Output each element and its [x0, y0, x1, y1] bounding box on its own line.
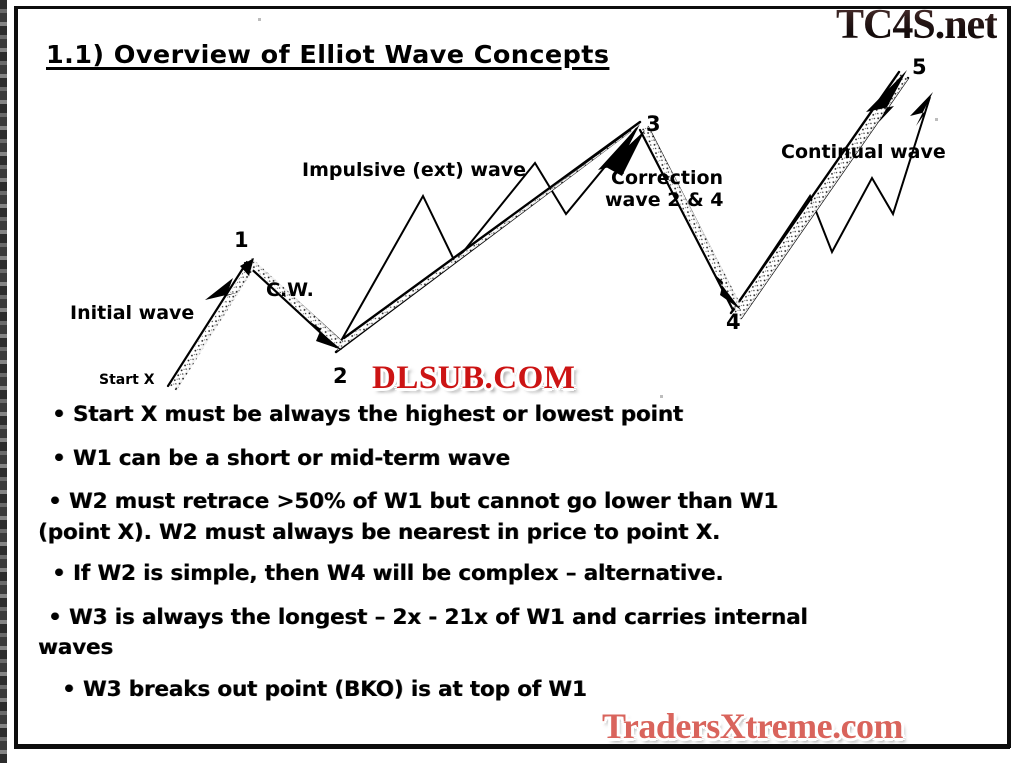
- watermark-tradersxtreme: TradersXtreme.com: [602, 705, 903, 747]
- diagram-point-5: 5: [912, 55, 927, 79]
- bullet-line: (point X). W2 must always be nearest in …: [38, 522, 982, 544]
- diagram-label-start-x: Start X: [99, 373, 155, 389]
- bullet-item: • If W2 is simple, then W4 will be compl…: [52, 563, 982, 585]
- diagram-label-cw: C.W.: [266, 280, 314, 301]
- diagram-label-correction-line1: Correction: [611, 168, 723, 189]
- bullet-line: • If W2 is simple, then W4 will be compl…: [52, 563, 982, 585]
- bullet-line: • W2 must retrace >50% of W1 but cannot …: [48, 491, 982, 513]
- diagram-label-continual-wave: Continual wave: [781, 142, 946, 163]
- concepts-bullet-list: • Start X must be always the highest or …: [52, 404, 982, 700]
- wave-shaded-arrow-fills: [170, 73, 908, 390]
- diagram-point-3: 3: [646, 112, 661, 136]
- elliot-wave-diagram: Initial wave Start X C.W. Impulsive (ext…: [0, 0, 1024, 410]
- watermark-dlsub: DLSUB.COM: [372, 360, 575, 397]
- diagram-point-4: 4: [726, 310, 741, 334]
- wave-drawing: [0, 0, 1024, 410]
- bullet-item: • W2 must retrace >50% of W1 but cannot …: [52, 491, 982, 543]
- bullet-item: • W3 breaks out point (BKO) is at top of…: [52, 679, 982, 701]
- bullet-line: waves: [38, 637, 982, 659]
- watermark-tradersxtreme-clip: TradersXtreme.com: [596, 700, 1024, 758]
- bullet-item: • Start X must be always the highest or …: [52, 404, 982, 426]
- bullet-line: • W3 breaks out point (BKO) is at top of…: [62, 679, 982, 701]
- bullet-item: • W1 can be a short or mid-term wave: [52, 448, 982, 470]
- diagram-point-1: 1: [234, 228, 249, 252]
- diagram-label-correction-line2: wave 2 & 4: [605, 190, 724, 211]
- scanned-page: 1.1) Overview of Elliot Wave Concepts: [0, 0, 1024, 763]
- bullet-item: • W3 is always the longest – 2x - 21x of…: [52, 607, 982, 659]
- diagram-label-initial-wave: Initial wave: [70, 303, 194, 324]
- bullet-line: • Start X must be always the highest or …: [52, 404, 982, 426]
- bullet-line: • W1 can be a short or mid-term wave: [52, 448, 982, 470]
- watermark-tc4s: TC4S.net: [836, 1, 997, 46]
- diagram-point-2: 2: [333, 364, 348, 388]
- bullet-line: • W3 is always the longest – 2x - 21x of…: [48, 607, 982, 629]
- diagram-label-impulsive-wave: Impulsive (ext) wave: [302, 160, 526, 181]
- watermark-tc4s-clip: TC4S.net: [830, 0, 1024, 46]
- wave-thin-outline-strokes: [168, 72, 930, 389]
